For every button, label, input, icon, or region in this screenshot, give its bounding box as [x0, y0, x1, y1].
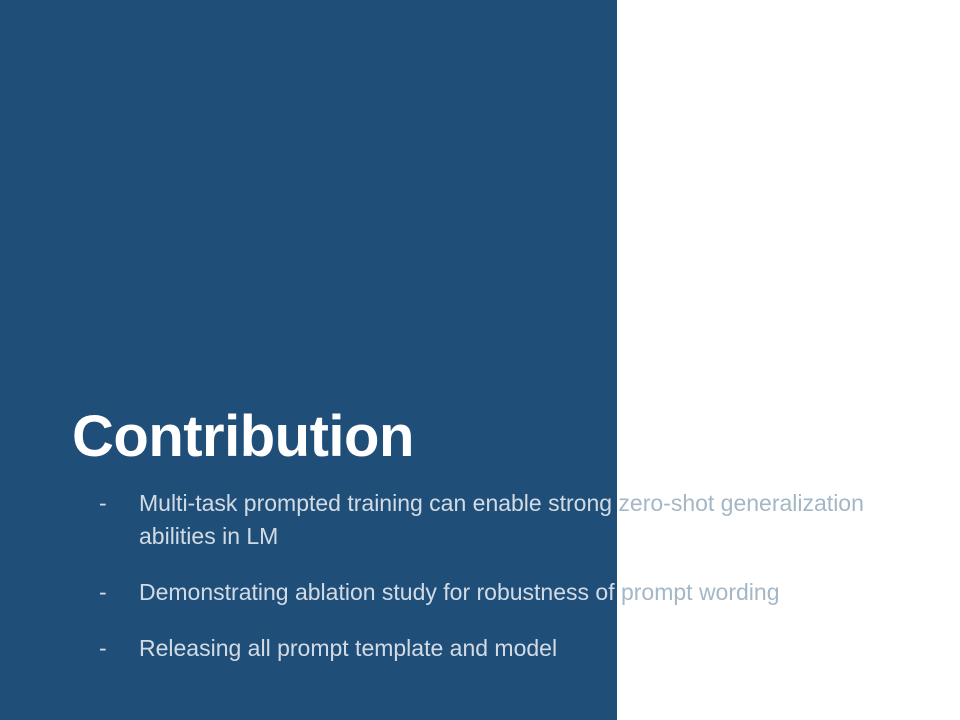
slide-content: Contribution - Multi-task prompted train…: [0, 0, 960, 720]
list-item-label: Demonstrating ablation study for robustn…: [139, 576, 896, 609]
list-item: - Releasing all prompt template and mode…: [96, 632, 896, 665]
bullet-dash-icon: -: [99, 487, 117, 520]
slide-canvas: Contribution - Multi-task prompted train…: [0, 0, 960, 720]
page-title: Contribution: [72, 406, 414, 469]
bullet-dash-icon: -: [99, 632, 117, 665]
list-item-label: Releasing all prompt template and model: [139, 632, 896, 665]
bullet-dash-icon: -: [99, 576, 117, 609]
list-item: - Multi-task prompted training can enabl…: [96, 487, 896, 553]
list-item: - Demonstrating ablation study for robus…: [96, 576, 896, 609]
bullet-list: - Multi-task prompted training can enabl…: [96, 487, 896, 665]
list-item-label: Multi-task prompted training can enable …: [139, 487, 896, 553]
